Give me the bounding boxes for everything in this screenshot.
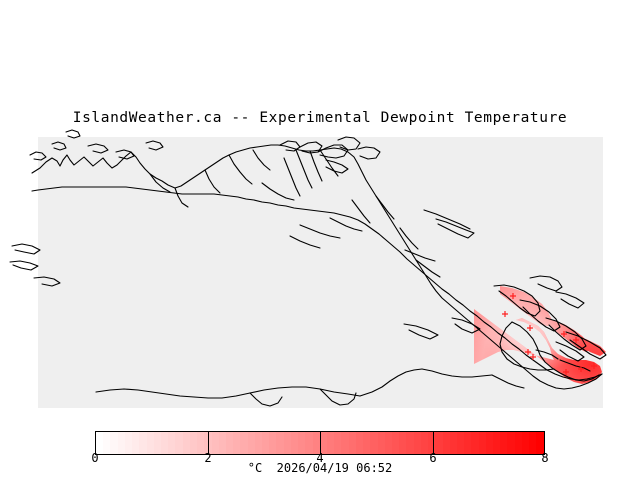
- colorbar-step-25: [276, 432, 283, 454]
- colorbar-step-35: [349, 432, 356, 454]
- colorbar-caption: °C 2026/04/19 06:52: [0, 461, 640, 475]
- colorbar-step-48: [443, 432, 450, 454]
- colorbar-step-59: [522, 432, 529, 454]
- colorbar-step-42: [399, 432, 406, 454]
- colorbar-step-39: [378, 432, 385, 454]
- map-plot-area: [38, 137, 603, 408]
- colorbar-step-22: [255, 432, 262, 454]
- colorbar-step-50: [457, 432, 464, 454]
- weather-map-page: IslandWeather.ca -- Experimental Dewpoin…: [0, 0, 640, 480]
- colorbar-step-29: [305, 432, 312, 454]
- colorbar-step-1: [103, 432, 110, 454]
- colorbar-step-13: [190, 432, 197, 454]
- colorbar-step-32: [327, 432, 334, 454]
- colorbar-step-21: [248, 432, 255, 454]
- colorbar-step-34: [341, 432, 348, 454]
- colorbar-step-6: [139, 432, 146, 454]
- colorbar-step-28: [298, 432, 305, 454]
- colorbar-step-60: [529, 432, 536, 454]
- colorbar-step-51: [464, 432, 471, 454]
- colorbar-step-7: [147, 432, 154, 454]
- colorbar-step-37: [363, 432, 370, 454]
- colorbar-step-33: [334, 432, 341, 454]
- colorbar-step-9: [161, 432, 168, 454]
- colorbar-step-8: [154, 432, 161, 454]
- colorbar-step-41: [392, 432, 399, 454]
- colorbar-step-4: [125, 432, 132, 454]
- colorbar-step-53: [479, 432, 486, 454]
- colorbar-step-20: [240, 432, 247, 454]
- colorbar-step-24: [269, 432, 276, 454]
- page-title: IslandWeather.ca -- Experimental Dewpoin…: [0, 110, 640, 126]
- colorbar-step-16: [212, 432, 219, 454]
- colorbar-step-56: [500, 432, 507, 454]
- colorbar-step-43: [406, 432, 413, 454]
- colorbar-step-5: [132, 432, 139, 454]
- colorbar-step-36: [356, 432, 363, 454]
- colorbar-step-11: [175, 432, 182, 454]
- colorbar-step-54: [486, 432, 493, 454]
- colorbar-step-18: [226, 432, 233, 454]
- colorbar-step-2: [110, 432, 117, 454]
- colorbar-step-57: [507, 432, 514, 454]
- colorbar-step-27: [291, 432, 298, 454]
- colorbar-step-49: [450, 432, 457, 454]
- colorbar-step-26: [284, 432, 291, 454]
- colorbar-step-12: [183, 432, 190, 454]
- colorbar-step-17: [219, 432, 226, 454]
- colorbar-step-58: [515, 432, 522, 454]
- colorbar-step-45: [421, 432, 428, 454]
- colorbar-step-52: [471, 432, 478, 454]
- colorbar-step-10: [168, 432, 175, 454]
- colorbar-step-19: [233, 432, 240, 454]
- colorbar-step-55: [493, 432, 500, 454]
- colorbar-step-44: [414, 432, 421, 454]
- colorbar-step-3: [118, 432, 125, 454]
- colorbar-step-23: [262, 432, 269, 454]
- colorbar-step-38: [370, 432, 377, 454]
- colorbar-step-40: [385, 432, 392, 454]
- colorbar-step-14: [197, 432, 204, 454]
